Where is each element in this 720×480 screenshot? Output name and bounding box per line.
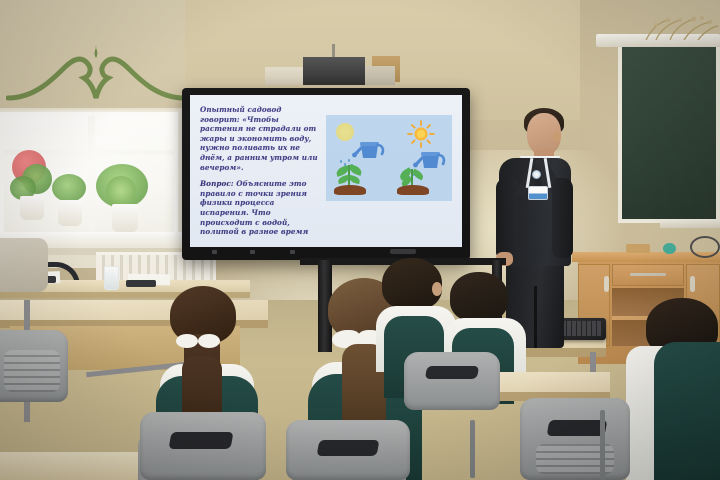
screen-button-power[interactable] [212, 250, 217, 254]
screen-brand-logo [390, 249, 416, 254]
student-ear [432, 282, 442, 296]
cabinet-handle-left[interactable] [604, 276, 609, 292]
equipment-box-right [365, 66, 395, 85]
glass-of-water [104, 266, 119, 290]
lapel-pin-badge [532, 170, 541, 179]
backpack [0, 238, 48, 292]
chair-back-ribs [4, 350, 60, 392]
teacher-ear [553, 131, 561, 142]
name-badge [528, 186, 548, 200]
student-uniform-vest [654, 342, 720, 480]
chair-handle-slot [169, 432, 234, 449]
tatar-floral-ornament-icon [6, 46, 186, 108]
chalkboard-tray [660, 219, 720, 228]
cabinet-handle-right[interactable] [690, 276, 695, 292]
equipment-box-left [265, 67, 303, 85]
potted-plant-green-large [96, 164, 148, 236]
illustration-left-panel [326, 115, 389, 201]
equipment-dark-unit [303, 57, 365, 85]
cabinet-drawer-handle[interactable] [630, 273, 666, 276]
chair-leg [470, 420, 475, 478]
student-right-edge [630, 332, 720, 480]
interactive-whiteboard-screen[interactable]: Опытный садовод говорит: «Чтобы растения… [190, 95, 462, 247]
illustration-right-panel [389, 115, 452, 201]
slide-illustration [326, 115, 452, 201]
student-hair [450, 272, 508, 322]
slide-text-block: Опытный садовод говорит: «Чтобы растения… [200, 105, 320, 237]
screen-button-menu[interactable] [250, 250, 255, 254]
bright-sun-icon [407, 120, 435, 148]
teacher-arm-right [552, 178, 573, 258]
teacher-trouser-seam [534, 286, 537, 348]
slide-paragraph-1: Опытный садовод говорит: «Чтобы растения… [200, 105, 320, 172]
plant-leaf [348, 175, 360, 184]
teacher-arm-left [496, 178, 518, 260]
screen-button-source[interactable] [290, 250, 295, 254]
hair-bow [198, 334, 220, 348]
hair-bow [176, 334, 198, 348]
classroom-photo: Опытный садовод говорит: «Чтобы растения… [0, 0, 720, 480]
soil-mound [334, 185, 366, 195]
presentation-slide: Опытный садовод говорит: «Чтобы растения… [190, 95, 462, 247]
chalkboard [618, 47, 720, 223]
cable-coil [690, 236, 720, 258]
soil-mound [397, 185, 429, 195]
potted-plant-green-small [50, 174, 90, 236]
chair[interactable] [404, 352, 500, 410]
slide-paragraph-2-wrapper: Вопрос: Объясните это правило с точки зр… [200, 179, 320, 237]
cabinet-top-wooden-object [626, 244, 650, 253]
student-left-edge [0, 300, 70, 480]
dried-plant-decoration-icon [642, 14, 720, 40]
chair-handle-slot [317, 440, 380, 456]
watering-can-icon [413, 147, 446, 171]
watering-can-icon [352, 137, 385, 161]
cabinet-top-green-object [663, 243, 676, 254]
slide-question-label: Вопрос: [200, 179, 234, 188]
chair-handle-slot [425, 366, 479, 379]
chair-leg [600, 410, 605, 480]
chair-handle-slot [547, 420, 608, 436]
